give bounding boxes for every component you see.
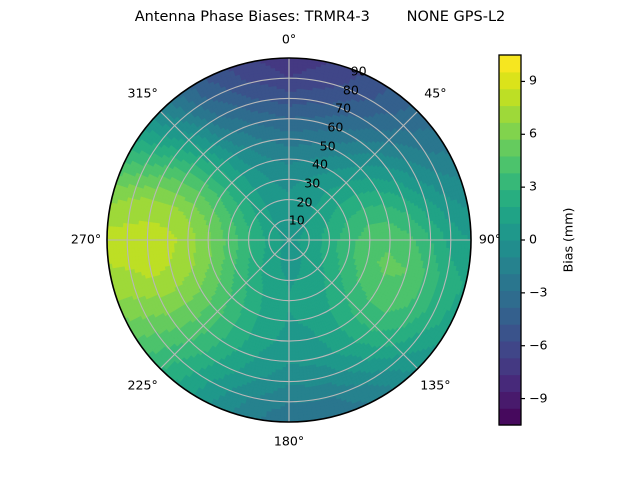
radial-tick-label-10: 10 xyxy=(289,215,305,228)
azimuth-tick-label-180: 180° xyxy=(274,436,304,449)
colorbar-tick-label-2: 3 xyxy=(529,181,537,194)
colorbar-tick-label-4: −3 xyxy=(529,287,548,300)
radial-tick-label-40: 40 xyxy=(312,159,328,172)
colorbar-axis-label: Bias (mm) xyxy=(563,208,576,273)
radial-tick-label-70: 70 xyxy=(335,103,351,116)
colorbar-tick-label-0: 9 xyxy=(529,75,537,88)
colorbar-tick-label-1: 6 xyxy=(529,128,537,141)
radial-tick-label-30: 30 xyxy=(304,178,320,191)
azimuth-tick-label-270: 270° xyxy=(71,234,101,247)
radial-tick-label-20: 20 xyxy=(296,196,312,209)
azimuth-tick-label-45: 45° xyxy=(424,87,446,100)
radial-tick-label-50: 50 xyxy=(320,140,336,153)
azimuth-tick-label-0: 0° xyxy=(282,34,296,47)
radial-tick-label-80: 80 xyxy=(343,84,359,97)
azimuth-tick-label-90: 90° xyxy=(479,234,501,247)
azimuth-tick-label-225: 225° xyxy=(127,380,157,393)
polar-gridlines xyxy=(107,58,471,422)
figure-canvas: Antenna Phase Biases: TRMR4-3 NONE GPS-L… xyxy=(0,0,640,480)
radial-tick-label-90: 90 xyxy=(351,66,367,79)
azimuth-tick-label-135: 135° xyxy=(420,380,450,393)
colorbar-tick-label-3: 0 xyxy=(529,234,537,247)
radial-tick-label-60: 60 xyxy=(327,122,343,135)
azimuth-tick-label-315: 315° xyxy=(127,87,157,100)
colorbar-tick-label-5: −6 xyxy=(529,339,548,352)
colorbar-tick-label-6: −9 xyxy=(529,392,548,405)
